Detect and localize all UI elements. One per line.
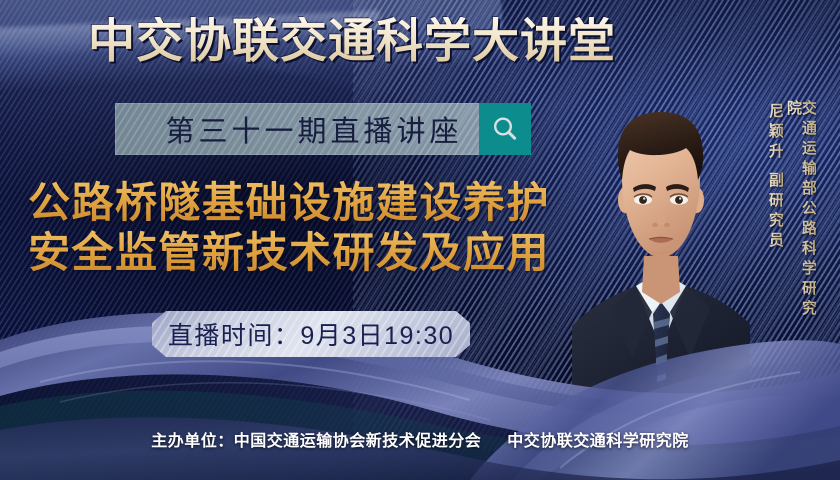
schedule-text: 直播时间：9月3日19:30 xyxy=(168,316,454,352)
speaker-name-title: 尼颖升副研究员 xyxy=(768,103,783,261)
episode-banner: 第三十一期直播讲座 xyxy=(115,103,531,155)
footer-organizer-2: 中交协联交通科学研究院 xyxy=(507,433,689,450)
lecture-topic: 公路桥隧基础设施建设养护 安全监管新技术研发及应用 xyxy=(28,178,578,278)
schedule-pill: 直播时间：9月3日19:30 xyxy=(152,311,470,357)
topic-line-1: 公路桥隧基础设施建设养护 xyxy=(28,178,578,228)
footer-organizers: 主办单位：中国交通运输协会新技术促进分会中交协联交通科学研究院 xyxy=(0,427,840,451)
live-lecture-poster: 中交协联交通科学大讲堂 第三十一期直播讲座 公路桥隧基础设施建设养护 安全监管新… xyxy=(0,0,840,480)
speaker-title: 副研究员 xyxy=(767,172,784,252)
search-icon-box[interactable] xyxy=(479,103,531,155)
search-icon xyxy=(490,114,520,144)
episode-label: 第三十一期直播讲座 xyxy=(115,108,479,150)
speaker-name: 尼颖升 xyxy=(767,103,784,163)
footer-organizer-1: 中国交通运输协会新技术促进分会 xyxy=(234,433,482,450)
topic-line-2: 安全监管新技术研发及应用 xyxy=(28,228,578,278)
page-title: 中交协联交通科学大讲堂 xyxy=(0,17,840,64)
footer-prefix: 主办单位： xyxy=(151,433,234,450)
speaker-affiliation: 交通运输部公路科学研究院 xyxy=(786,100,816,326)
